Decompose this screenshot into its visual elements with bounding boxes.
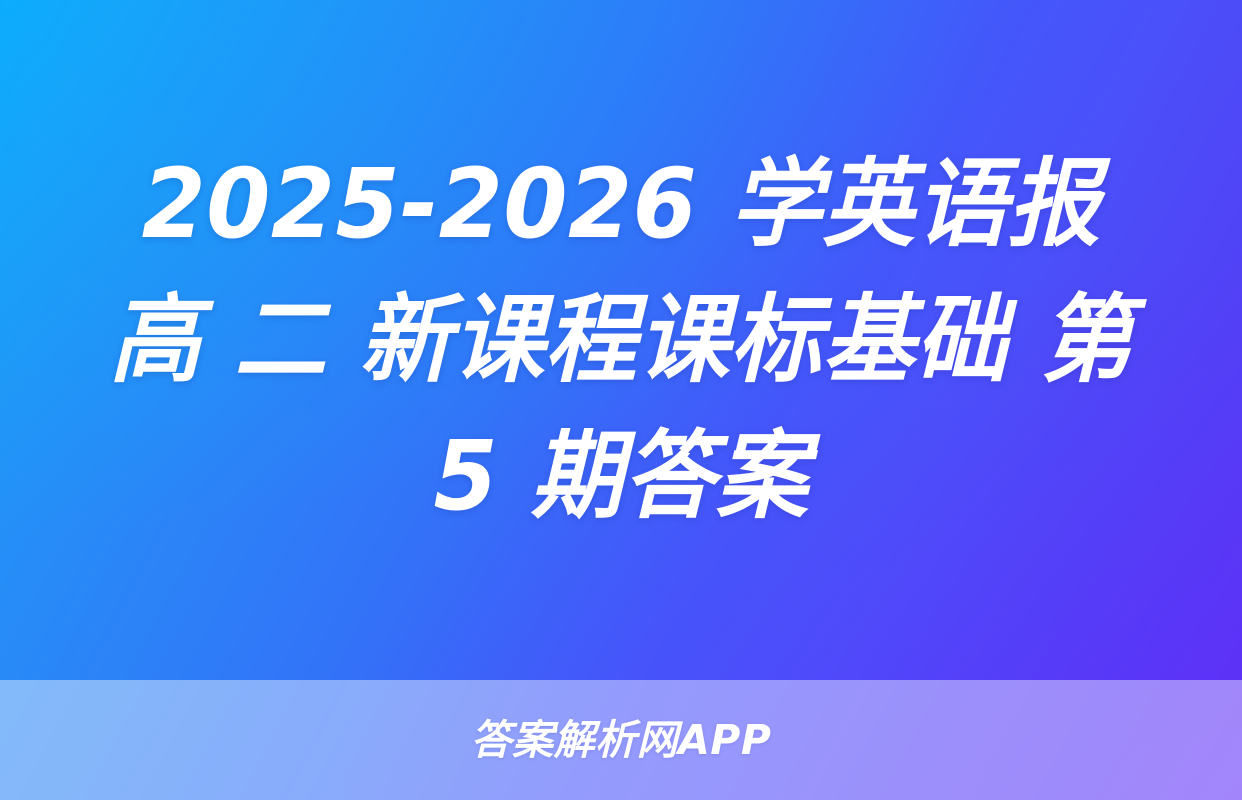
- watermark-band: 答案解析网APP: [0, 680, 1242, 800]
- title-line-3: 期答案: [531, 420, 809, 532]
- title-area: 2025-2026 学英语报 高 二 新课程课标基础 第5 期答案: [0, 0, 1242, 680]
- app-watermark: 答案解析网APP: [471, 720, 772, 761]
- page-title: 2025-2026 学英语报 高 二 新课程课标基础 第5 期答案: [83, 136, 1158, 545]
- answer-card: 2025-2026 学英语报 高 二 新课程课标基础 第5 期答案 答案解析网A…: [0, 0, 1242, 800]
